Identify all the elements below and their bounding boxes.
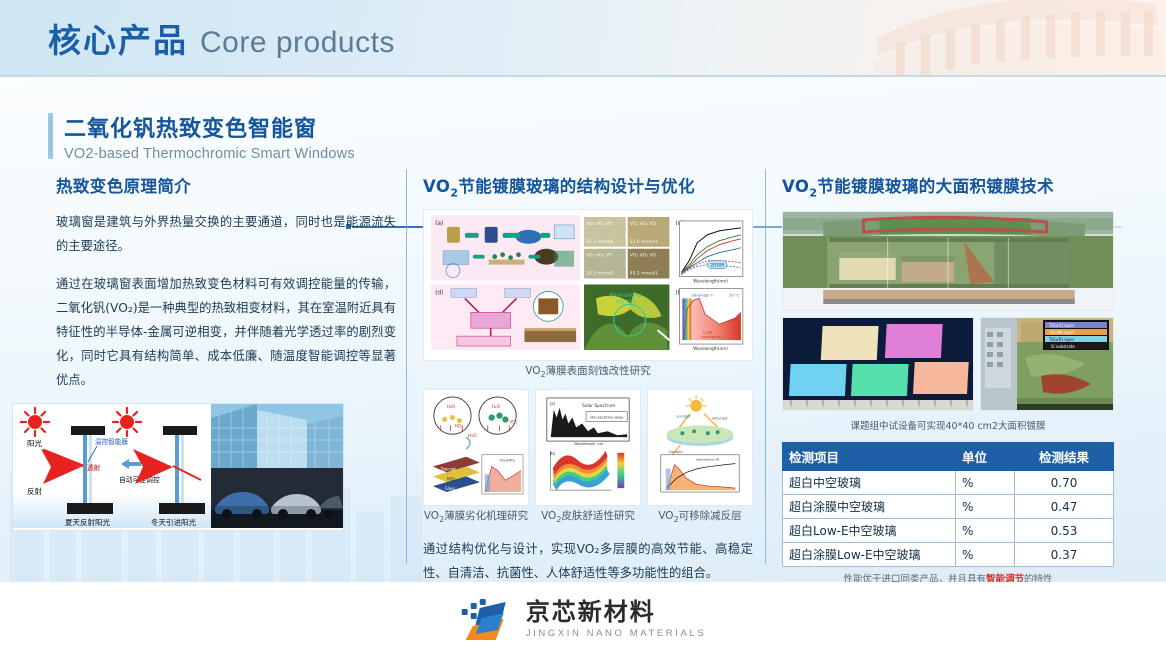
figure-row: H₂OH₂OHO₂VO₂ H₂O Topcoat H — [423, 389, 753, 524]
svg-text:VO₂: VO₂ — [509, 420, 517, 426]
svg-text:Wavelength(nm): Wavelength(nm) — [693, 346, 728, 351]
cell-item: 超白中空玻璃 — [783, 471, 956, 495]
svg-text:VO₂ VO₂ VO: VO₂ VO₂ VO — [630, 253, 657, 259]
table-header-item: 检测项目 — [783, 443, 956, 471]
svg-text:VO₂(M) layer: VO₂(M) layer — [1049, 330, 1075, 335]
svg-text:absorption: absorption — [701, 335, 722, 339]
column-divider-2 — [765, 169, 766, 564]
svg-text:VO₂ film: VO₂ film — [616, 300, 636, 306]
table-row: 超白Low-E中空玻璃 % 0.53 — [783, 519, 1114, 543]
svg-text:Wavelength(nm): Wavelength(nm) — [693, 279, 728, 284]
svg-text:Sunlight: Sunlight — [669, 450, 683, 454]
column-left: 热致变色原理简介 玻璃窗是建筑与外界热量交换的主要通道，同时也是能源流失的主要途… — [56, 173, 396, 393]
figure-caption-skin-comfort: VO2皮肤舒适性研究 — [535, 508, 641, 524]
right-heading-pre: VO — [782, 177, 809, 196]
figure-caption-antireflection: VO2可移除减反层 — [647, 508, 753, 524]
page-title: 核心产品Core products — [48, 14, 395, 62]
table-header-unit: 单位 — [956, 443, 1015, 471]
figure-cell-skin-comfort: (a) Solar Spectrum skin-sensitive range … — [535, 389, 641, 524]
principle-diagram: 阳光 反射 温控智能膜 透射 夏天反射阳光 自动可逆调控 — [13, 404, 211, 528]
pixel-arrow-logo-icon — [460, 596, 516, 642]
svg-text:TiO₂(R) layer: TiO₂(R) layer — [1048, 337, 1075, 342]
svg-text:TiO₂(A) layer: TiO₂(A) layer — [1048, 323, 1075, 328]
footnote-post: 的特性 — [1024, 574, 1053, 582]
svg-text:45.2 mmol/L: 45.2 mmol/L — [630, 271, 659, 277]
coating-photo-caption: 课题组中试设备可实现40*40 cm2大面积镀膜 — [782, 418, 1114, 432]
svg-text:sunlight: sunlight — [676, 415, 691, 419]
column-divider-1 — [406, 169, 407, 564]
smart-window-principle-illustration: 阳光 反射 温控智能膜 透射 夏天反射阳光 自动可逆调控 — [12, 403, 344, 531]
test-results-table: 检测项目 单位 检测结果 超白中空玻璃 % 0.70 超白涂膜中空玻璃 % 0.… — [782, 442, 1114, 567]
cell-item: 超白Low-E中空玻璃 — [783, 519, 956, 543]
svg-text:with/without AR: with/without AR — [696, 458, 719, 462]
cell-unit: % — [956, 471, 1015, 495]
column-right: VO2节能镀膜玻璃的大面积镀膜技术 — [782, 173, 1114, 582]
svg-text:33.9 mmol/L: 33.9 mmol/L — [586, 271, 615, 277]
etching-research-figure: (a) — [427, 213, 749, 352]
middle-column-heading: VO2节能镀膜玻璃的结构设计与优化 — [423, 173, 753, 199]
svg-text:反射: 反射 — [27, 486, 42, 496]
svg-text:透射: 透射 — [87, 463, 101, 472]
cap2-post: 可移除减反层 — [679, 510, 742, 522]
figure-caption-etching: VO2薄膜表面刻蚀改性研究 — [423, 363, 753, 379]
svg-text:H₂O: H₂O — [492, 404, 501, 410]
svg-text:HO₂: HO₂ — [454, 424, 463, 430]
svg-text:ultra-high T: ultra-high T — [691, 294, 714, 298]
svg-text:温控智能膜: 温控智能膜 — [95, 437, 128, 446]
table-footnote: 性能优于进口同类产品，并且具有智能调节的特性 — [782, 571, 1114, 582]
illustration-photos — [211, 404, 343, 528]
cap1-post: 皮肤舒适性研究 — [561, 510, 635, 522]
cars-photo-svg — [211, 468, 343, 528]
svg-text:VO₂ VO₂ VO: VO₂ VO₂ VO — [586, 221, 613, 227]
cap2-pre: VO — [658, 510, 673, 522]
section-title-bar — [48, 113, 53, 159]
logo-text-en: JINGXIN NANO MATERIALS — [526, 628, 707, 639]
page-title-en: Core products — [200, 26, 395, 59]
cell-result: 0.47 — [1015, 495, 1114, 519]
coated-glass-landscape-photo — [783, 212, 1113, 310]
svg-text:Wavelength, nm: Wavelength, nm — [574, 442, 603, 446]
cell-unit: % — [956, 495, 1015, 519]
zoom-badge-label: 2DOM — [710, 263, 724, 269]
figure-caption-degradation: VO2薄膜劣化机理研究 — [423, 508, 529, 524]
slide-root: 核心产品Core products — [0, 0, 1166, 658]
table-row: 超白涂膜中空玻璃 % 0.47 — [783, 495, 1114, 519]
middle-heading-pre: VO — [423, 177, 450, 196]
column-middle: VO2节能镀膜玻璃的结构设计与优化 (a) — [423, 173, 753, 582]
figure-cell-degradation-img: H₂OH₂OHO₂VO₂ H₂O Topcoat H — [423, 389, 529, 506]
middle-heading-post: 节能镀膜玻璃的结构设计与优化 — [458, 177, 695, 196]
figure-card-etching: (a) — [423, 209, 753, 361]
cell-result: 0.70 — [1015, 471, 1114, 495]
cell-item: 超白涂膜中空玻璃 — [783, 495, 956, 519]
cell-result: 0.53 — [1015, 519, 1114, 543]
svg-text:Nano-porous: Nano-porous — [610, 293, 642, 299]
middle-paragraph: 通过结构优化与设计，实现VO₂多层膜的高效节能、高稳定性、自清洁、抗菌性、人体舒… — [423, 538, 753, 582]
section-title-cn: 二氧化钒热致变色智能窗 — [64, 111, 355, 143]
caption-post: 薄膜表面刻蚀改性研究 — [546, 365, 651, 377]
glass-curtain-building-photo — [211, 404, 343, 468]
building-photo-svg — [211, 404, 343, 468]
left-column-heading: 热致变色原理简介 — [56, 173, 396, 197]
left-paragraph-1: 玻璃窗是建筑与外界热量交换的主要通道，同时也是能源流失的主要途径。 — [56, 211, 396, 259]
svg-text:Si substrate: Si substrate — [1051, 344, 1075, 349]
large-area-coating-photo — [782, 211, 1114, 311]
svg-text:阳光: 阳光 — [27, 438, 42, 448]
table-row: 超白中空玻璃 % 0.70 — [783, 471, 1114, 495]
layer-structure-photo: TiO₂(A) layer VO₂(M) layer TiO₂(R) layer… — [980, 317, 1114, 411]
svg-text:(d): (d) — [435, 290, 443, 297]
svg-text:H₂O: H₂O — [468, 434, 477, 440]
table-row: 超白涂膜Low-E中空玻璃 % 0.37 — [783, 543, 1114, 567]
svg-text:20 °C: 20 °C — [729, 294, 740, 298]
photo-row: TiO₂(A) layer VO₂(M) layer TiO₂(R) layer… — [782, 317, 1114, 411]
svg-text:VO₂/HfO₂: VO₂/HfO₂ — [500, 459, 516, 463]
svg-text:Solar Spectrum: Solar Spectrum — [582, 403, 615, 409]
slide-body: 二氧化钒热致变色智能窗 VO2-based Thermochromic Smar… — [0, 77, 1166, 582]
svg-text:90 °C: 90 °C — [729, 320, 740, 324]
company-logo: 京芯新材料 JINGXIN NANO MATERIALS — [460, 596, 707, 642]
cap0-pre: VO — [424, 510, 439, 522]
cap1-pre: VO — [541, 510, 556, 522]
figure-cell-degradation: H₂OH₂OHO₂VO₂ H₂O Topcoat H — [423, 389, 529, 524]
left-paragraph-2: 通过在玻璃窗表面增加热致变色材料可有效调控能量的传输，二氧化钒(VO₂)是一种典… — [56, 273, 396, 393]
footer: 京芯新材料 JINGXIN NANO MATERIALS — [0, 582, 1166, 658]
page-title-cn: 核心产品 — [48, 21, 188, 60]
cell-result: 0.37 — [1015, 543, 1114, 567]
cell-item: 超白涂膜Low-E中空玻璃 — [783, 543, 956, 567]
logo-text-cn: 京芯新材料 — [526, 600, 707, 624]
svg-text:skin-sensitive range: skin-sensitive range — [590, 416, 623, 420]
svg-text:(a): (a) — [435, 220, 443, 227]
cap0-post: 薄膜劣化机理研究 — [444, 510, 528, 522]
skin-comfort-figure: (a) Solar Spectrum skin-sensitive range … — [539, 393, 637, 497]
svg-text:Glass: Glass — [445, 486, 456, 491]
colonnade-building-watermark-icon — [866, 0, 1166, 76]
svg-text:reflected: reflected — [712, 417, 728, 421]
principle-diagram-svg: 阳光 反射 温控智能膜 透射 夏天反射阳光 自动可逆调控 — [13, 404, 211, 528]
cars-photo — [211, 468, 343, 528]
caption-pre: VO — [525, 365, 540, 377]
svg-text:VO₂ VO₂ VO: VO₂ VO₂ VO — [630, 221, 657, 227]
section-title-en: VO2-based Thermochromic Smart Windows — [64, 146, 355, 162]
header-band: 核心产品Core products — [0, 0, 1166, 76]
figure-cell-skin-comfort-img: (a) Solar Spectrum skin-sensitive range … — [535, 389, 641, 506]
svg-text:H₂O: H₂O — [447, 404, 456, 410]
svg-text:11.3 mmol/L: 11.3 mmol/L — [586, 239, 615, 245]
section-title: 二氧化钒热致变色智能窗 VO2-based Thermochromic Smar… — [48, 111, 355, 162]
table-header-row: 检测项目 单位 检测结果 — [783, 443, 1114, 471]
figure-cell-antireflection: sunlight reflected Sunlight — [647, 389, 753, 524]
svg-text:夏天反射阳光: 夏天反射阳光 — [65, 517, 110, 527]
degradation-mechanism-figure: H₂OH₂OHO₂VO₂ H₂O Topcoat H — [427, 393, 525, 497]
footnote-pre: 性能优于进口同类产品，并且具有 — [843, 574, 986, 582]
figure-cell-antireflection-img: sunlight reflected Sunlight — [647, 389, 753, 506]
table-header-result: 检测结果 — [1015, 443, 1114, 471]
svg-text:VO₂ VO₂ VO: VO₂ VO₂ VO — [586, 253, 613, 259]
svg-text:Topcoat: Topcoat — [440, 467, 457, 472]
footnote-highlight: 智能调节 — [986, 574, 1024, 582]
cell-unit: % — [956, 543, 1015, 567]
svg-text:HfO₂: HfO₂ — [447, 477, 456, 482]
svg-text:(a): (a) — [550, 401, 556, 406]
svg-text:冬天引进阳光: 冬天引进阳光 — [151, 517, 196, 527]
colored-coated-samples-photo — [782, 317, 974, 411]
removable-antireflection-figure: sunlight reflected Sunlight — [651, 393, 749, 497]
right-heading-post: 节能镀膜玻璃的大面积镀膜技术 — [817, 177, 1054, 196]
cell-unit: % — [956, 519, 1015, 543]
right-column-heading: VO2节能镀膜玻璃的大面积镀膜技术 — [782, 173, 1114, 199]
logo-text: 京芯新材料 JINGXIN NANO MATERIALS — [526, 600, 707, 639]
svg-text:22.6 mmol/L: 22.6 mmol/L — [630, 239, 659, 245]
